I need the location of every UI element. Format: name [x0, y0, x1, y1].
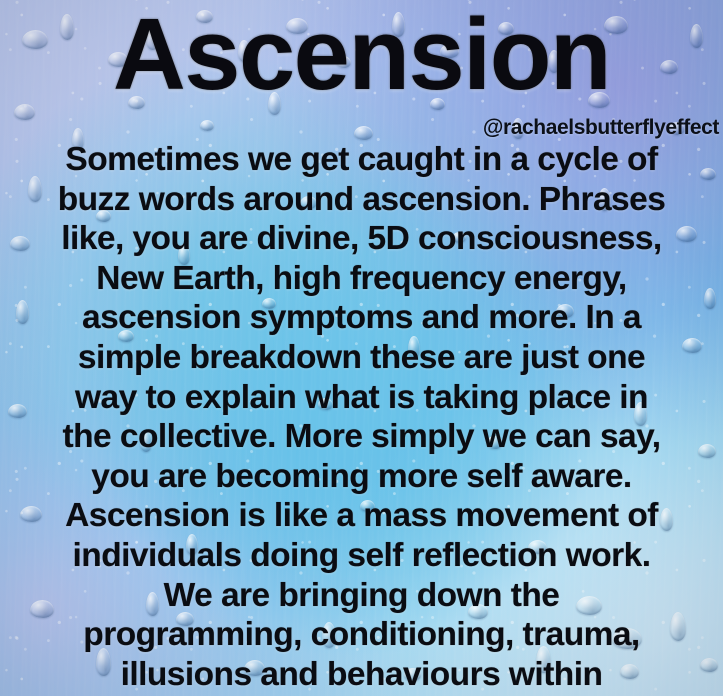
quote-line: simple breakdown these are just one [4, 338, 719, 378]
quote-line: way to explain what is taking place in [4, 378, 719, 418]
quote-line: programming, conditioning, trauma, [4, 615, 719, 655]
quote-line: the collective. More simply we can say, [4, 417, 719, 457]
quote-line: buzz words around ascension. Phrases [4, 180, 719, 220]
quote-line: We are bringing down the [4, 576, 719, 616]
quote-line: Ascension is like a mass movement of [4, 496, 719, 536]
page-title: Ascension [0, 4, 723, 107]
quote-line: New Earth, high frequency energy, [4, 259, 719, 299]
quote-line: illusions and behaviours within [4, 655, 719, 695]
quote-line: you are becoming more self aware. [4, 457, 719, 497]
author-handle: @rachaelsbutterflyeffect [483, 116, 719, 140]
quote-line: individuals doing self reflection work. [4, 536, 719, 576]
quote-line: like, you are divine, 5D consciousness, [4, 219, 719, 259]
quote-body: Sometimes we get caught in a cycle of bu… [4, 140, 719, 696]
quote-line: ascension symptoms and more. In a [4, 298, 719, 338]
quote-image: Ascension @rachaelsbutterflyeffect Somet… [0, 0, 723, 696]
quote-line: Sometimes we get caught in a cycle of [4, 140, 719, 180]
